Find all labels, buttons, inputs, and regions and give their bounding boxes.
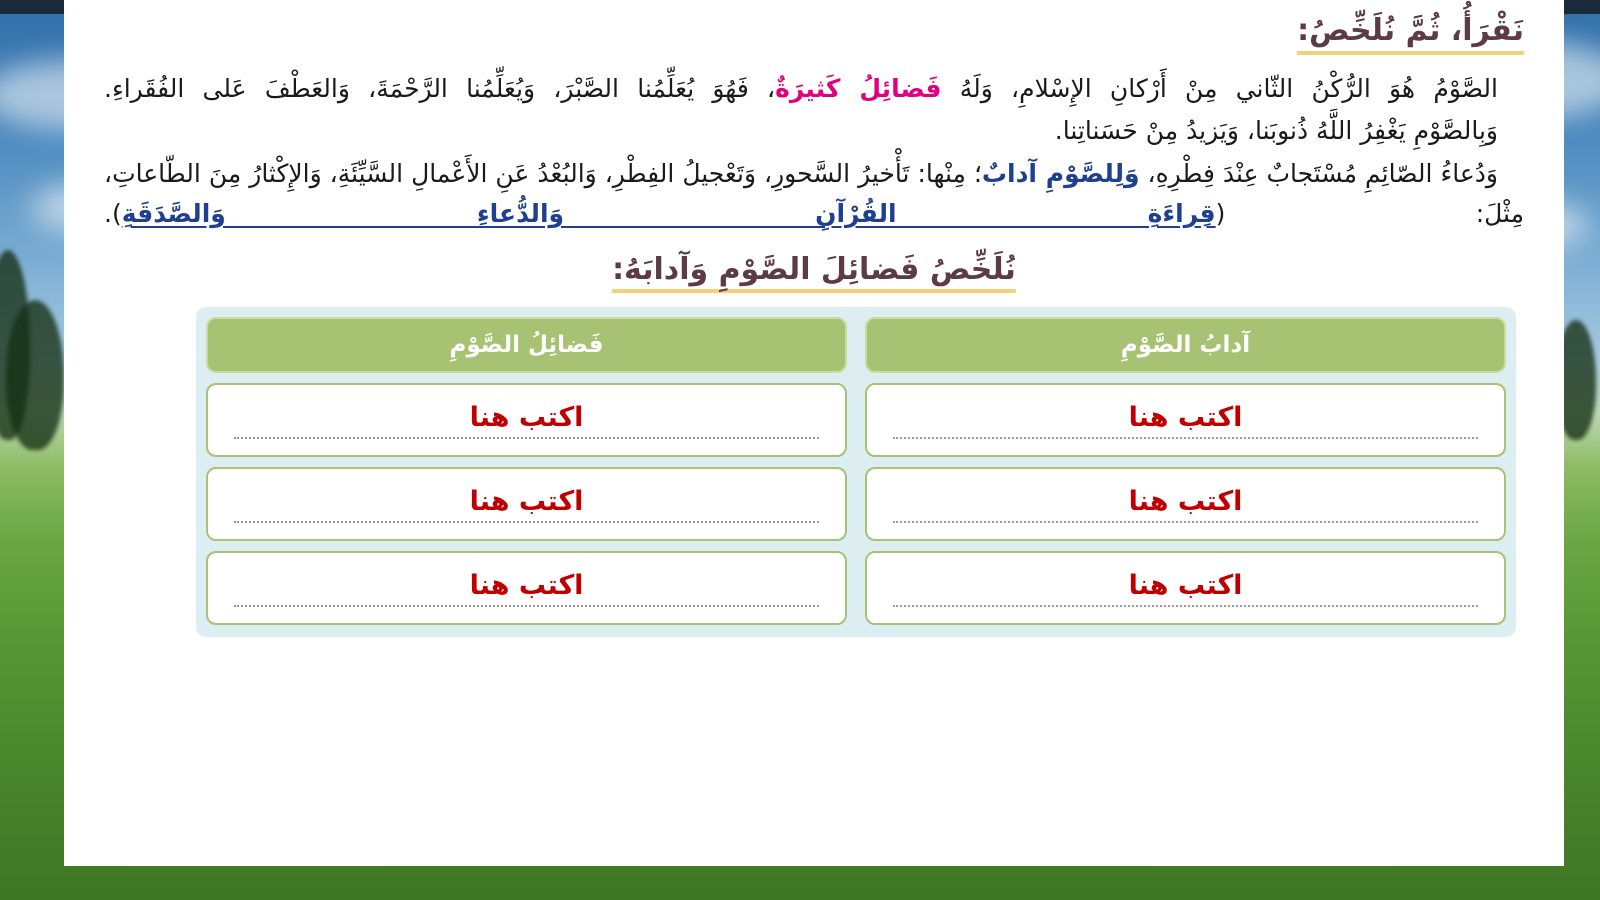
summary-heading: نُلَخِّصُ فَضائِلَ الصَّوْمِ وَآدابَهُ:: [612, 253, 1016, 294]
highlight-fasting-etiquette: وَلِلصَّوْمِ آدابٌ: [982, 159, 1140, 188]
table-row: اكتب هنا اكتب هنا: [206, 383, 1506, 457]
paragraph-virtues-part1: الصَّوْمُ هُوَ الرُّكْنُ الثّاني مِنْ أَ…: [941, 74, 1498, 103]
paragraph-etiquette-part1: وَدُعاءُ الصّائِمِ مُسْتَجابٌ عِنْدَ فِط…: [1140, 159, 1498, 188]
answer-cell-etiquette-2[interactable]: اكتب هنا: [865, 467, 1506, 541]
answer-cell-virtues-1[interactable]: اكتب هنا: [206, 383, 847, 457]
page-title: نَقْرَأُ، ثُمَّ نُلَخِّصُ:: [1297, 14, 1524, 55]
paragraph-etiquette-part3: ).: [104, 199, 122, 228]
paragraph-virtues: الصَّوْمُ هُوَ الرُّكْنُ الثّاني مِنْ أَ…: [104, 69, 1524, 110]
answer-placeholder: اكتب هنا: [464, 570, 590, 601]
answer-placeholder: اكتب هنا: [1123, 570, 1249, 601]
summary-table: آدابُ الصَّوْمِ فَضائِلُ الصَّوْمِ اكتب …: [196, 307, 1516, 637]
writing-line: [234, 437, 819, 439]
summary-heading-row: نُلَخِّصُ فَضائِلَ الصَّوْمِ وَآدابَهُ:: [104, 253, 1524, 294]
highlight-quran-dua-sadaqa: قِراءَةِ القُرْآنِ وَالدُّعاءِ وَالصَّدَ…: [122, 199, 1216, 228]
table-header-row: آدابُ الصَّوْمِ فَضائِلُ الصَّوْمِ: [206, 317, 1506, 373]
writing-line: [893, 521, 1478, 523]
paragraph-forgiveness: وَبِالصَّوْمِ يَغْفِرُ اللَّهُ ذُنوبَنا،…: [104, 111, 1524, 152]
writing-line: [893, 437, 1478, 439]
table-header-etiquette: آدابُ الصَّوْمِ: [865, 317, 1506, 373]
answer-cell-virtues-3[interactable]: اكتب هنا: [206, 551, 847, 625]
writing-line: [893, 605, 1478, 607]
table-header-etiquette-label: آدابُ الصَّوْمِ: [1121, 332, 1250, 358]
writing-line: [234, 605, 819, 607]
table-header-virtues: فَضائِلُ الصَّوْمِ: [206, 317, 847, 373]
answer-cell-etiquette-3[interactable]: اكتب هنا: [865, 551, 1506, 625]
table-header-virtues-label: فَضائِلُ الصَّوْمِ: [450, 332, 604, 358]
answer-cell-etiquette-1[interactable]: اكتب هنا: [865, 383, 1506, 457]
content-panel: نَقْرَأُ، ثُمَّ نُلَخِّصُ: الصَّوْمُ هُو…: [64, 0, 1564, 866]
answer-placeholder: اكتب هنا: [464, 402, 590, 433]
paragraph-virtues-part2: ، فَهُوَ يُعَلِّمُنا الصَّبْرَ، وَيُعَلِ…: [104, 74, 775, 103]
answer-placeholder: اكتب هنا: [1123, 486, 1249, 517]
table-row: اكتب هنا اكتب هنا: [206, 551, 1506, 625]
table-row: اكتب هنا اكتب هنا: [206, 467, 1506, 541]
highlight-many-virtues: فَضائِلُ كَثيرَةٌ: [775, 74, 941, 103]
answer-placeholder: اكتب هنا: [464, 486, 590, 517]
slide-background: نَقْرَأُ، ثُمَّ نُلَخِّصُ: الصَّوْمُ هُو…: [0, 0, 1600, 900]
read-and-summarize-heading-row: نَقْرَأُ، ثُمَّ نُلَخِّصُ:: [104, 14, 1524, 55]
writing-line: [234, 521, 819, 523]
answer-placeholder: اكتب هنا: [1123, 402, 1249, 433]
answer-cell-virtues-2[interactable]: اكتب هنا: [206, 467, 847, 541]
paragraph-etiquette: وَدُعاءُ الصّائِمِ مُسْتَجابٌ عِنْدَ فِط…: [104, 154, 1524, 235]
lesson-body: الصَّوْمُ هُوَ الرُّكْنُ الثّاني مِنْ أَ…: [104, 69, 1524, 235]
